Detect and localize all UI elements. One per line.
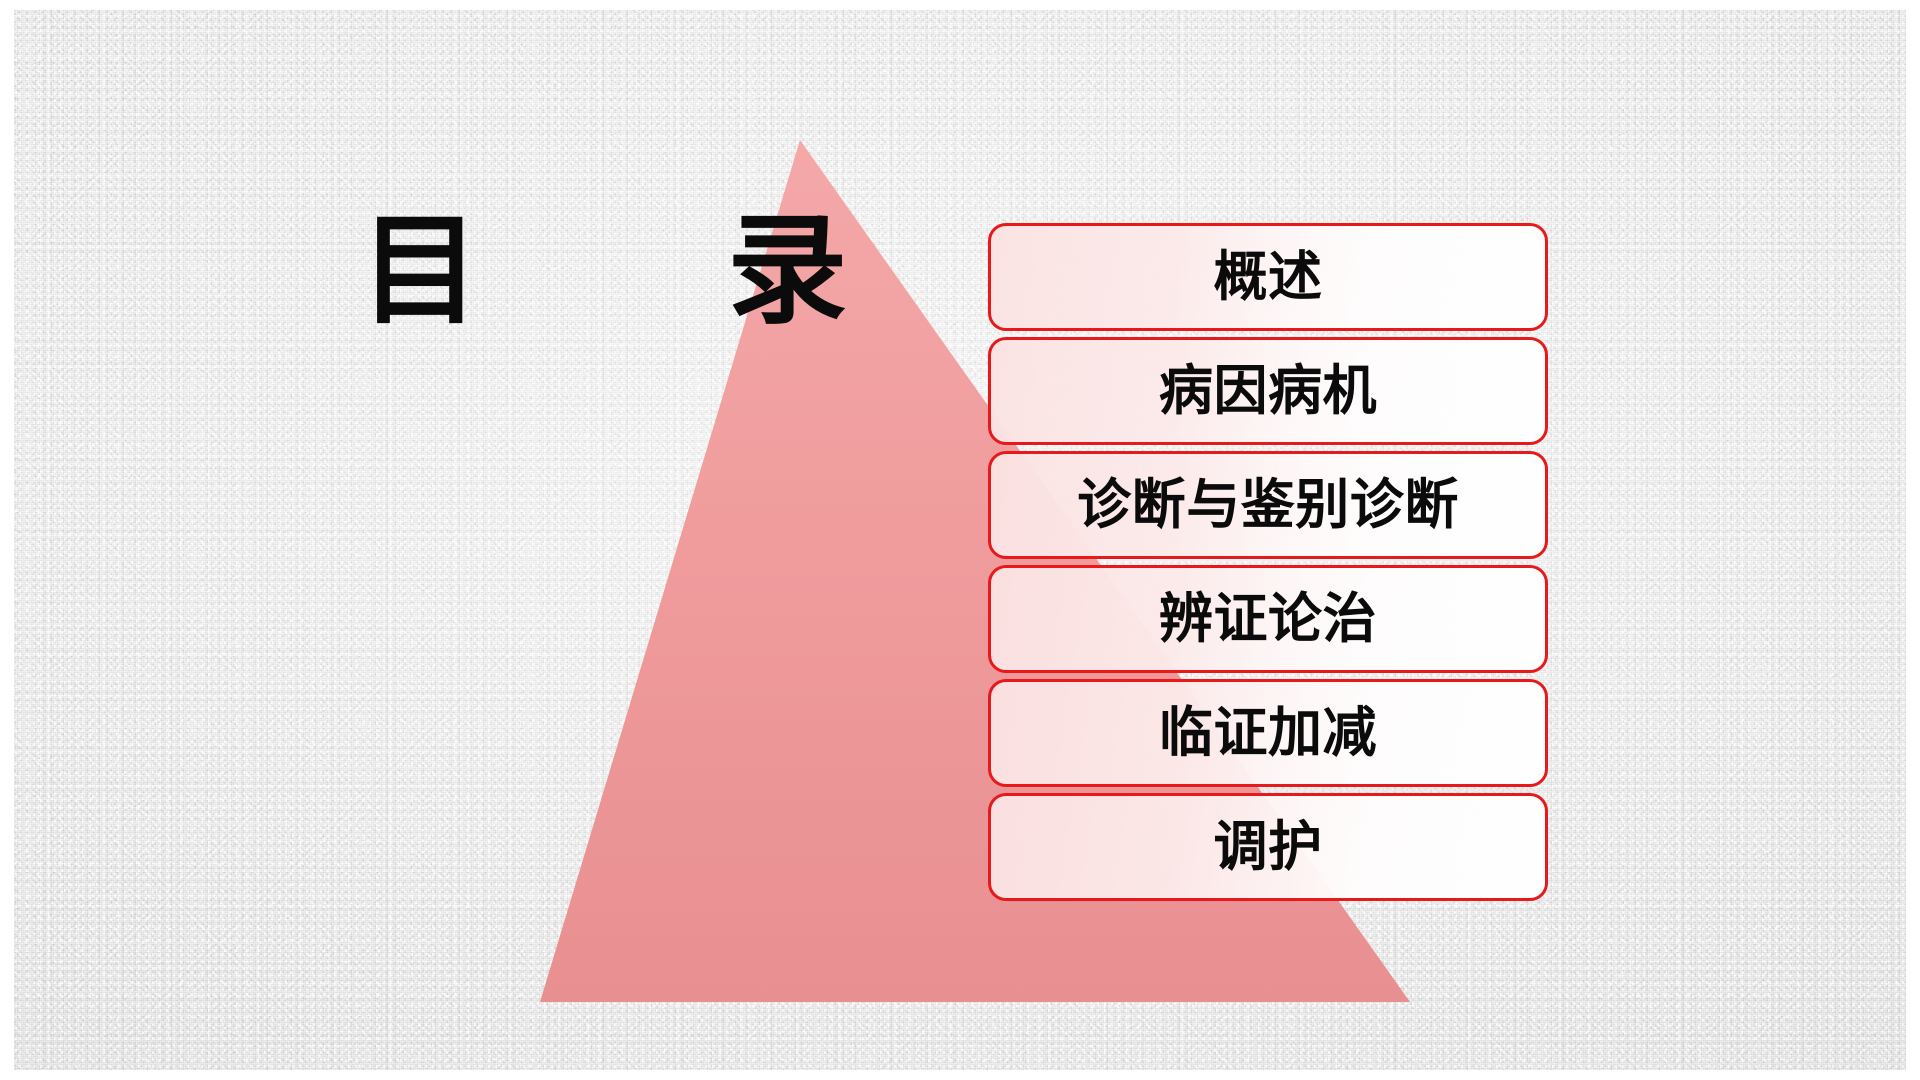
toc-item-label: 诊断与鉴别诊断 — [1077, 478, 1459, 532]
toc-item-6[interactable]: 调护 — [988, 793, 1548, 901]
toc-item-3[interactable]: 诊断与鉴别诊断 — [988, 451, 1548, 559]
toc-item-4[interactable]: 辨证论治 — [988, 565, 1548, 673]
toc-item-label: 病因病机 — [1159, 364, 1377, 418]
toc-item-1[interactable]: 概述 — [988, 223, 1548, 331]
table-of-contents-list: 概述 病因病机 诊断与鉴别诊断 辨证论治 临证加减 调护 — [988, 223, 1548, 901]
toc-item-label: 概述 — [1213, 250, 1322, 304]
toc-item-label: 辨证论治 — [1159, 592, 1377, 646]
toc-item-5[interactable]: 临证加减 — [988, 679, 1548, 787]
page-title: 目 录 — [360, 212, 850, 332]
presentation-slide: 目 录 概述 病因病机 诊断与鉴别诊断 辨证论治 临证加减 调护 — [0, 0, 1920, 1080]
toc-item-label: 调护 — [1213, 820, 1322, 874]
toc-item-label: 临证加减 — [1159, 706, 1377, 760]
toc-item-2[interactable]: 病因病机 — [988, 337, 1548, 445]
